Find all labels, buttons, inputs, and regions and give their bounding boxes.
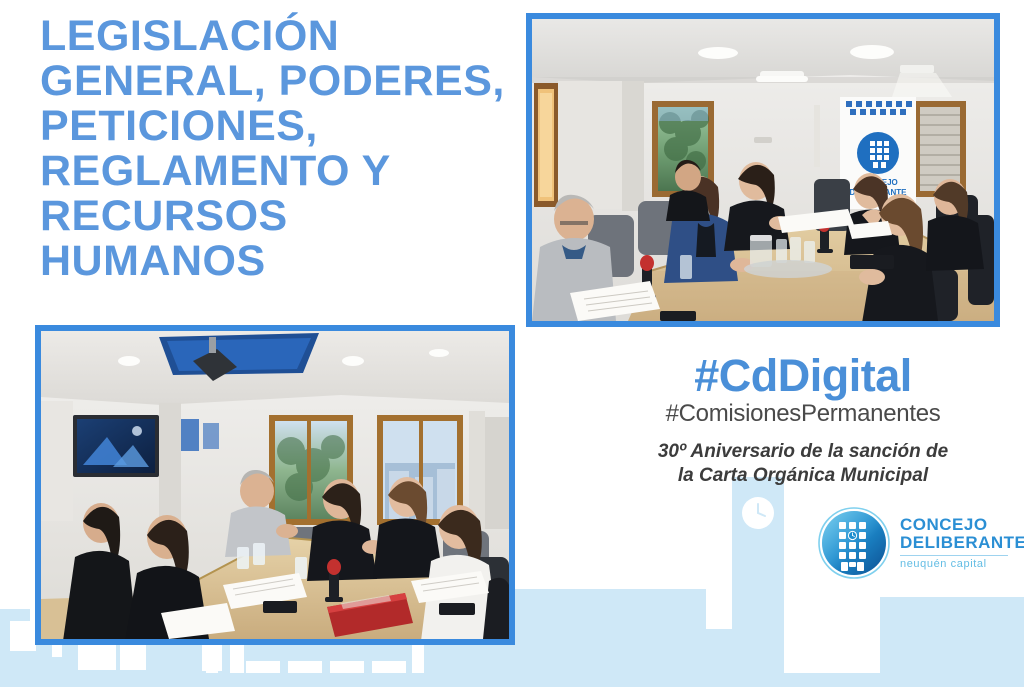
logo-subtitle: neuquén capital [900,558,1024,570]
meeting-photo-bottom [35,325,515,645]
logo-wordmark: CONCEJO DELIBERANTE neuquén capital [900,516,1024,570]
concejo-deliberante-logo: CONCEJO DELIBERANTE neuquén capital [816,503,1016,583]
hashtag-cddigital: #CdDigital [596,352,1010,400]
meeting-photo-top: CONCEJO DELIBERANTE [526,13,1000,327]
logo-title-line-1: CONCEJO [900,516,1024,534]
hashtag-comisiones-permanentes: #ComisionesPermanentes [596,400,1010,428]
building-clock-badge-icon [816,505,892,581]
logo-title-line-2: DELIBERANTE [900,534,1024,552]
anniversary-line-1: 30º Aniversario de la sanción de [658,441,948,462]
page-title: LEGISLACIÓN GENERAL, PODERES, PETICIONES… [40,14,510,284]
poster-canvas: LEGISLACIÓN GENERAL, PODERES, PETICIONES… [0,0,1024,687]
anniversary-caption: 30º Aniversario de la sanción de la Cart… [596,440,1010,488]
anniversary-line-2: la Carta Orgánica Municipal [678,465,928,486]
logo-divider [900,555,1008,556]
